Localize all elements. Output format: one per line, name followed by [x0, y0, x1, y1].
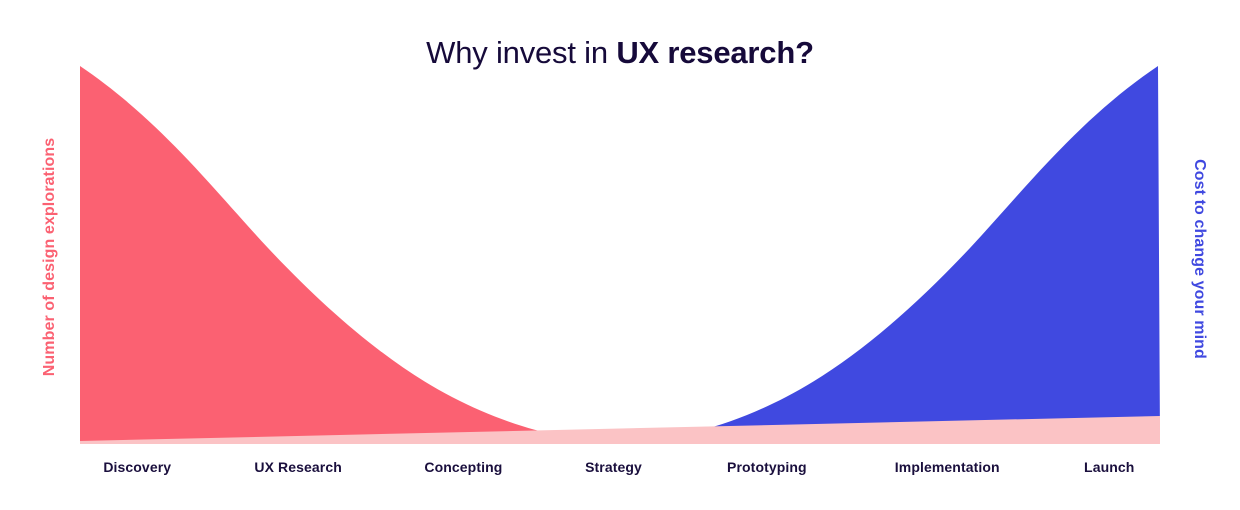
y-axis-right-title: Cost to change your mind	[1190, 104, 1208, 414]
ux-research-chart: Why invest in UX research? Number of des…	[0, 0, 1240, 510]
x-axis-labels: DiscoveryUX ResearchConceptingStrategyPr…	[80, 457, 1160, 481]
chart-svg	[0, 0, 1240, 510]
x-axis-label: Strategy	[585, 457, 642, 477]
x-axis-label: UX Research	[254, 457, 341, 477]
plot-area	[0, 0, 1240, 510]
x-axis-label: Prototyping	[727, 457, 807, 477]
x-axis-label: Implementation	[895, 457, 1000, 477]
x-axis-label: Concepting	[424, 457, 502, 477]
series-group	[80, 66, 1160, 444]
x-axis-label: Launch	[1084, 457, 1134, 477]
x-axis-label: Discovery	[103, 457, 171, 477]
y-axis-left-title: Number of design explorations	[41, 102, 59, 412]
